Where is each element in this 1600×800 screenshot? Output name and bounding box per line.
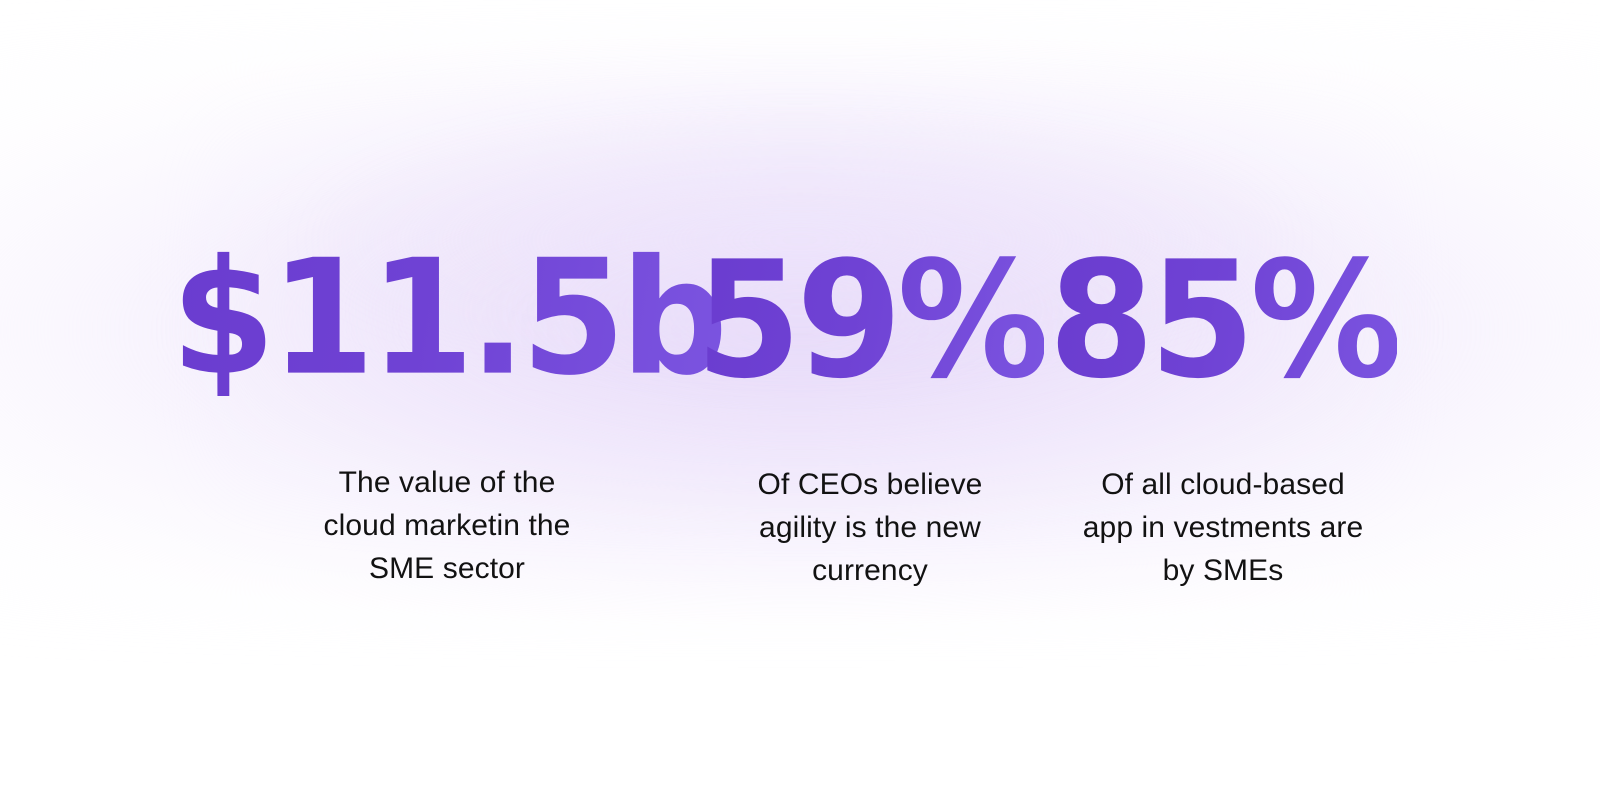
stat-card-ceo-agility-currency: 59% Of CEOs believe agility is the new c…: [705, 238, 1035, 592]
stat-caption-sme-cloud-investment: Of all cloud-based app in vestments are …: [1083, 463, 1363, 592]
stat-card-cloud-market-value: $11.5b The value of the cloud marketin t…: [197, 238, 697, 590]
stats-row: $11.5b The value of the cloud marketin t…: [0, 0, 1600, 800]
stat-card-sme-cloud-investment: 85% Of all cloud-based app in vestments …: [1043, 238, 1403, 592]
stats-banner: $11.5b The value of the cloud marketin t…: [0, 0, 1600, 800]
stat-value-sme-cloud-investment: 85%: [1049, 238, 1398, 402]
stat-value-ceo-agility-currency: 59%: [696, 238, 1045, 402]
stat-caption-ceo-agility-currency: Of CEOs believe agility is the new curre…: [758, 463, 983, 592]
stat-value-cloud-market-value: $11.5b: [171, 238, 723, 400]
stat-caption-cloud-market-value: The value of the cloud marketin the SME …: [324, 461, 571, 590]
